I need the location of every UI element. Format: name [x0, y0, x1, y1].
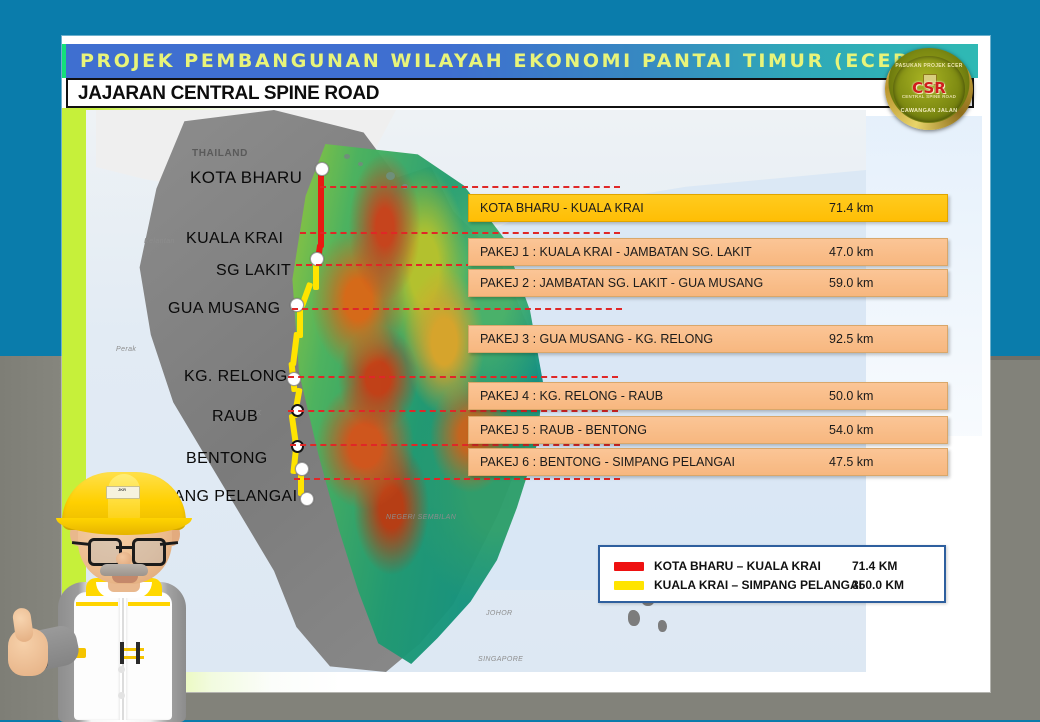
logo-bottom-text: CAWANGAN JALAN — [893, 108, 965, 114]
package-row[interactable]: PAKEJ 2 : JAMBATAN SG. LAKIT - GUA MUSAN… — [468, 269, 948, 297]
package-distance: 54.0 km — [829, 423, 947, 437]
map-region-label: JOHOR — [486, 610, 513, 617]
connector-line-2 — [300, 232, 620, 234]
route-node-simpang-pelangai[interactable] — [300, 492, 314, 506]
route-segment-kota-bharu-kuala-krai — [318, 172, 324, 248]
map-city-label: RAUB — [212, 408, 258, 426]
mascot-stripe-right — [128, 602, 170, 606]
legend-label: KUALA KRAI – SIMPANG PELANGAI — [654, 578, 862, 592]
logo-top-text: PASUKAN PROJEK ECER — [893, 63, 965, 69]
route-node-kg-relong[interactable] — [287, 372, 301, 386]
jkr-logo-icon — [120, 642, 146, 668]
package-row[interactable]: KOTA BHARU - KUALA KRAI71.4 km — [468, 194, 948, 222]
package-label: PAKEJ 6 : BENTONG - SIMPANG PELANGAI — [469, 455, 829, 469]
connector-line-4 — [292, 308, 622, 310]
legend-label: KOTA BHARU – KUALA KRAI — [654, 559, 821, 573]
header-title-bar: PROJEK PEMBANGUNAN WILAYAH EKONOMI PANTA… — [62, 44, 978, 78]
package-distance: 50.0 km — [829, 389, 947, 403]
package-label: PAKEJ 1 : KUALA KRAI - JAMBATAN SG. LAKI… — [469, 245, 829, 259]
package-label: KOTA BHARU - KUALA KRAI — [469, 201, 829, 215]
mascot-glasses-bridge — [116, 546, 132, 549]
route-node-bentong[interactable] — [295, 462, 309, 476]
map-region-label: NEGERI SEMBILAN — [386, 514, 456, 521]
map-city-label: KOTA BHARU — [190, 168, 302, 188]
package-label: PAKEJ 5 : RAUB - BENTONG — [469, 423, 829, 437]
route-node-bentong-marker[interactable] — [291, 440, 304, 453]
package-distance: 47.0 km — [829, 245, 947, 259]
logo-inner-disc: PASUKAN PROJEK ECER CSR CENTRAL SPINE RO… — [893, 56, 965, 122]
map-region-label: Perak — [116, 346, 136, 353]
header-subtitle-bar: JAJARAN CENTRAL SPINE ROAD — [66, 78, 974, 108]
mascot-mouth — [112, 576, 138, 583]
connector-line-1 — [320, 186, 620, 188]
route-node-kota-bharu[interactable] — [315, 162, 329, 176]
package-distance: 59.0 km — [829, 276, 947, 290]
map-city-label: GUA MUSANG — [168, 300, 280, 318]
mascot-helmet-badge-text: JKR — [108, 487, 136, 492]
mascot-moustache — [100, 564, 148, 576]
map-region-label: Kelantan — [144, 238, 175, 245]
legend-swatch — [614, 562, 644, 571]
package-distance: 47.5 km — [829, 455, 947, 469]
package-distance: 71.4 km — [829, 201, 947, 215]
map-city-label: KG. RELONG — [184, 368, 288, 386]
map-label-thailand: THAILAND — [192, 148, 248, 159]
map-city-label: SG LAKIT — [216, 262, 291, 280]
jkr-engineer-mascot: JKR — [0, 452, 232, 720]
connector-line-6 — [288, 410, 618, 412]
mascot-stripe-left — [76, 602, 118, 606]
map-city-label: KUALA KRAI — [186, 230, 283, 248]
package-distance: 92.5 km — [829, 332, 947, 346]
legend-distance: 350.0 KM — [852, 578, 904, 592]
legend-swatch — [614, 581, 644, 590]
logo-mid-text: CENTRAL SPINE ROAD — [893, 94, 965, 99]
package-label: PAKEJ 3 : GUA MUSANG - KG. RELONG — [469, 332, 829, 346]
package-row[interactable]: PAKEJ 6 : BENTONG - SIMPANG PELANGAI47.5… — [468, 448, 948, 476]
csr-project-logo: PASUKAN PROJEK ECER CSR CENTRAL SPINE RO… — [885, 48, 973, 130]
package-label: PAKEJ 4 : KG. RELONG - RAUB — [469, 389, 829, 403]
page-title: PROJEK PEMBANGUNAN WILAYAH EKONOMI PANTA… — [80, 50, 922, 72]
connector-line-7 — [290, 444, 620, 446]
legend-item: KUALA KRAI – SIMPANG PELANGAI — [614, 576, 862, 594]
map-legend: KOTA BHARU – KUALA KRAI71.4 KMKUALA KRAI… — [598, 545, 946, 603]
package-label: PAKEJ 2 : JAMBATAN SG. LAKIT - GUA MUSAN… — [469, 276, 829, 290]
page-subtitle: JAJARAN CENTRAL SPINE ROAD — [78, 83, 379, 105]
package-row[interactable]: PAKEJ 5 : RAUB - BENTONG54.0 km — [468, 416, 948, 444]
connector-line-5 — [288, 376, 618, 378]
legend-distance: 71.4 KM — [852, 559, 897, 573]
legend-item: KOTA BHARU – KUALA KRAI — [614, 557, 821, 575]
connector-line-8 — [294, 478, 620, 480]
map-region-label: SINGAPORE — [478, 656, 523, 663]
package-row[interactable]: PAKEJ 4 : KG. RELONG - RAUB50.0 km — [468, 382, 948, 410]
package-row[interactable]: PAKEJ 1 : KUALA KRAI - JAMBATAN SG. LAKI… — [468, 238, 948, 266]
mascot-button-bottom — [118, 692, 125, 699]
package-row[interactable]: PAKEJ 3 : GUA MUSANG - KG. RELONG92.5 km — [468, 325, 948, 353]
